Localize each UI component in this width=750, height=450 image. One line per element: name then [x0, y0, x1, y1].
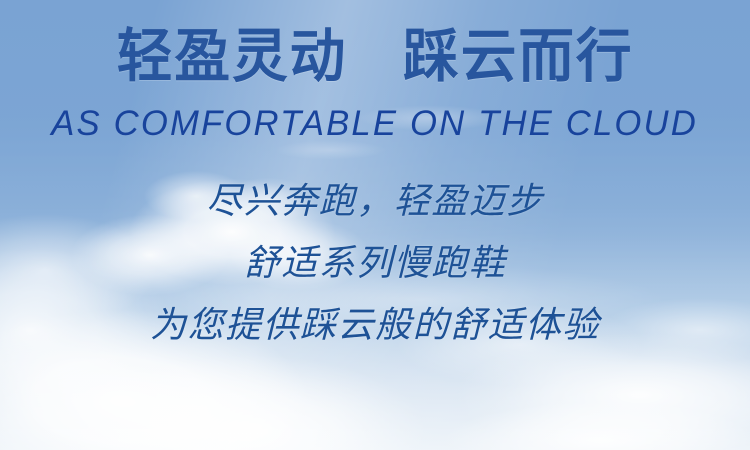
body-line-3: 为您提供踩云般的舒适体验 [150, 294, 600, 356]
headline: 轻盈灵动 踩云而行 [117, 27, 634, 88]
body-line-2: 舒适系列慢跑鞋 [244, 232, 507, 294]
promo-banner: 轻盈灵动 踩云而行 AS COMFORTABLE ON THE CLOUD 尽兴… [0, 0, 750, 450]
headline-part-1: 轻盈灵动 [117, 24, 347, 89]
subheadline-english: AS COMFORTABLE ON THE CLOUD [52, 104, 699, 144]
body-line-1: 尽兴奔跑，轻盈迈步 [206, 170, 544, 232]
banner-content: 轻盈灵动 踩云而行 AS COMFORTABLE ON THE CLOUD 尽兴… [0, 0, 750, 450]
body-copy: 尽兴奔跑，轻盈迈步 舒适系列慢跑鞋 为您提供踩云般的舒适体验 [150, 170, 600, 356]
headline-part-2: 踩云而行 [403, 24, 633, 89]
